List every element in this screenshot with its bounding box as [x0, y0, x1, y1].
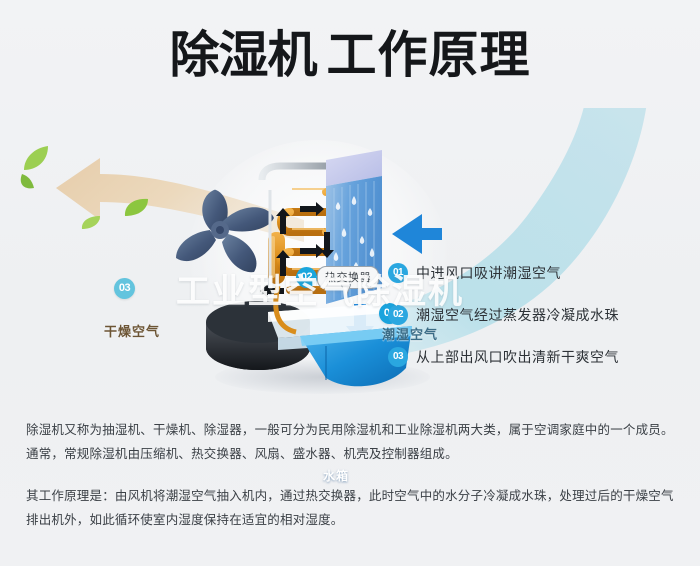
paragraph-2-line-1: 其工作原理是：由风机将潮湿空气抽入机内，通过热交换器，此时空气中的水分子冷凝成水…: [26, 484, 676, 508]
page-title-part1: 除湿机: [170, 27, 317, 83]
legend-badge-02: 02: [388, 305, 408, 325]
paragraph-1-line-1: 除湿机又称为抽湿机、干燥机、除湿器，一般可分为民用除湿机和工业除湿机两大类，属于…: [26, 418, 676, 442]
leaf-small-icon: [122, 196, 150, 220]
page-title-part2: 工作原理: [327, 27, 531, 83]
page-title: 除湿机工作原理: [0, 30, 700, 80]
legend-text-01: 中进风口吸讲潮湿空气: [416, 263, 561, 283]
legend-list: 01 中进风口吸讲潮湿空气 02 潮湿空气经过蒸发器冷凝成水珠 03 从上部出风…: [388, 252, 688, 378]
legend-item-02: 02 潮湿空气经过蒸发器冷凝成水珠: [388, 294, 688, 336]
diagram-badge-03: 03: [114, 278, 135, 299]
diagram-badge-02: 02: [296, 267, 317, 288]
legend-item-03: 03 从上部出风口吹出清新干爽空气: [388, 336, 688, 378]
paragraph-1-line-2: 通常，常规除湿机由压缩机、热交换器、风扇、盛水器、机壳及控制器组成。: [26, 442, 676, 466]
label-dry-air: 干燥空气: [104, 321, 160, 340]
legend-badge-03: 03: [388, 347, 408, 367]
infographic-page: 除湿机工作原理: [0, 0, 700, 566]
callout-tail-icon: [341, 284, 351, 296]
legend-item-01: 01 中进风口吸讲潮湿空气: [388, 252, 688, 294]
legend-badge-01: 01: [388, 263, 408, 283]
legend-text-03: 从上部出风口吹出清新干爽空气: [416, 347, 619, 367]
body-copy: 除湿机又称为抽湿机、干燥机、除湿器，一般可分为民用除湿机和工业除湿机两大类，属于…: [26, 418, 676, 532]
legend-text-02: 潮湿空气经过蒸发器冷凝成水珠: [416, 305, 619, 325]
leaf-tiny-icon: [80, 214, 102, 232]
paragraph-2-line-2: 排出机外，如此循环使室内湿度保持在适宜的相对湿度。: [26, 508, 676, 532]
leaf-icon: [18, 140, 78, 192]
